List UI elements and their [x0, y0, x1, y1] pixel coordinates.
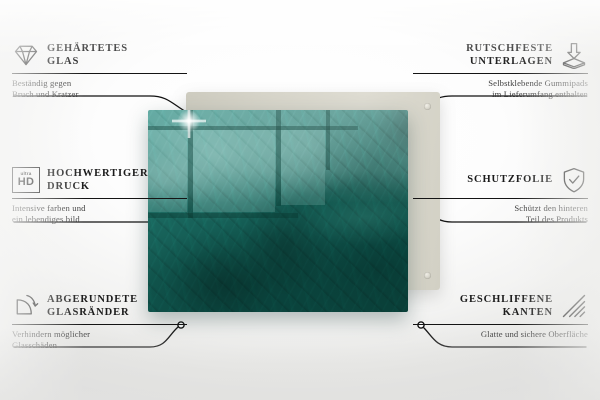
feature-title: RUTSCHFESTE UNTERLAGEN: [466, 42, 553, 69]
feature-title: GEHÄRTETES GLAS: [47, 42, 128, 69]
feature-header: RUTSCHFESTE UNTERLAGEN: [413, 38, 588, 72]
feature-title: ABGERUNDETE GLASRÄNDER: [47, 293, 138, 320]
feature-divider: [12, 324, 187, 325]
glass-sheen: [148, 110, 408, 312]
shield-check-icon: [560, 166, 588, 194]
feature-polished-edges: GESCHLIFFENE KANTEN Glatte und sichere O…: [413, 289, 588, 340]
feature-title: GESCHLIFFENE KANTEN: [460, 293, 553, 320]
press-pad-icon: [560, 41, 588, 69]
feature-divider: [413, 73, 588, 74]
diamond-icon: [12, 41, 40, 69]
feature-title: SCHUTZFOLIE: [467, 173, 553, 187]
feature-header: ultra HD HOCHWERTIGER DRUCK: [12, 163, 187, 197]
feature-title: HOCHWERTIGER DRUCK: [47, 167, 148, 194]
tempered-glass-panel: [148, 110, 408, 312]
feature-divider: [413, 198, 588, 199]
feature-header: ABGERUNDETE GLASRÄNDER: [12, 289, 187, 323]
feature-high-quality-print: ultra HD HOCHWERTIGER DRUCK Intensive fa…: [12, 163, 187, 226]
rubber-pad-top-right: [424, 103, 431, 110]
product-image: [148, 92, 448, 312]
hatch-lines-icon: [560, 292, 588, 320]
feature-subtitle: Verhindern möglicher Glasschäden: [12, 329, 187, 352]
feature-subtitle: Beständig gegen Bruch und Kratzer: [12, 78, 187, 101]
ultra-hd-icon: ultra HD: [12, 167, 40, 193]
feature-divider: [12, 198, 187, 199]
feature-subtitle: Glatte und sichere Oberfläche: [413, 329, 588, 340]
rubber-pad-bottom-right: [424, 272, 431, 279]
feature-non-slip-pads: RUTSCHFESTE UNTERLAGEN Selbstklebende Gu…: [413, 38, 588, 101]
feature-header: SCHUTZFOLIE: [413, 163, 588, 197]
feature-tempered-glass: GEHÄRTETES GLAS Beständig gegen Bruch un…: [12, 38, 187, 101]
feature-subtitle: Schützt den hinteren Teil des Produkts: [413, 203, 588, 226]
sparkle-glint-icon: [172, 110, 206, 138]
feature-divider: [12, 73, 187, 74]
infographic-canvas: GEHÄRTETES GLAS Beständig gegen Bruch un…: [0, 0, 600, 400]
feature-header: GESCHLIFFENE KANTEN: [413, 289, 588, 323]
feature-subtitle: Selbstklebende Gummipads im Lieferumfang…: [413, 78, 588, 101]
rounded-corner-icon: [12, 292, 40, 320]
feature-protective-film: SCHUTZFOLIE Schützt den hinteren Teil de…: [413, 163, 588, 226]
feature-divider: [413, 324, 588, 325]
feature-subtitle: Intensive farben und ein lebendiges bild: [12, 203, 187, 226]
feature-header: GEHÄRTETES GLAS: [12, 38, 187, 72]
feature-rounded-glass-edges: ABGERUNDETE GLASRÄNDER Verhindern möglic…: [12, 289, 187, 352]
